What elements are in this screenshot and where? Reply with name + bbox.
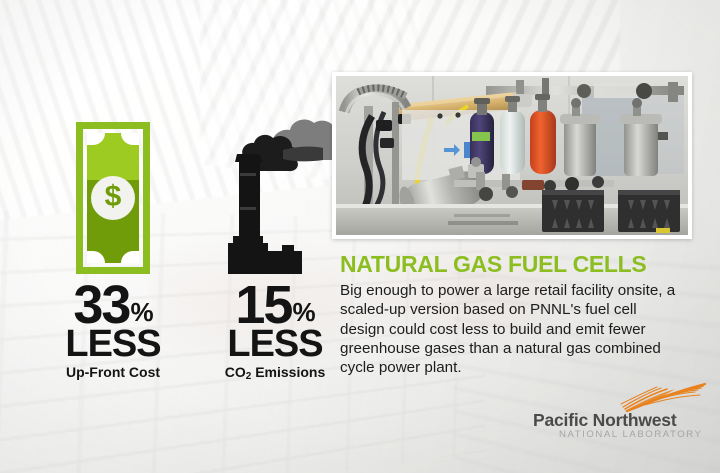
pnnl-logo-subtitle: NATIONAL LABORATORY [559, 429, 703, 440]
co2-prefix: CO [225, 364, 246, 380]
pnnl-logo: Pacific Northwest NATIONAL LABORATORY [523, 383, 708, 445]
smokestack-icon [211, 104, 339, 274]
dollar-sign-icon: $ [91, 176, 135, 220]
money-bill-notch-bottom-left [87, 251, 105, 263]
infographic-canvas: $ 33% LESS Up-Front Cost [0, 0, 720, 473]
pnnl-logo-name: Pacific Northwest [533, 410, 676, 431]
photo-frame [332, 72, 692, 239]
body-paragraph: Big enough to power a large retail facil… [340, 281, 676, 377]
money-bill-icon: $ [76, 122, 150, 274]
fuel-cell-lab-apparatus-photo [336, 76, 688, 235]
money-bill-face: $ [87, 133, 139, 263]
co2-suffix: Emissions [251, 364, 325, 380]
money-bill-notch-bottom-right [121, 251, 139, 263]
pnnl-swoosh-icon [605, 383, 709, 413]
page-title: NATURAL GAS FUEL CELLS [340, 252, 690, 276]
